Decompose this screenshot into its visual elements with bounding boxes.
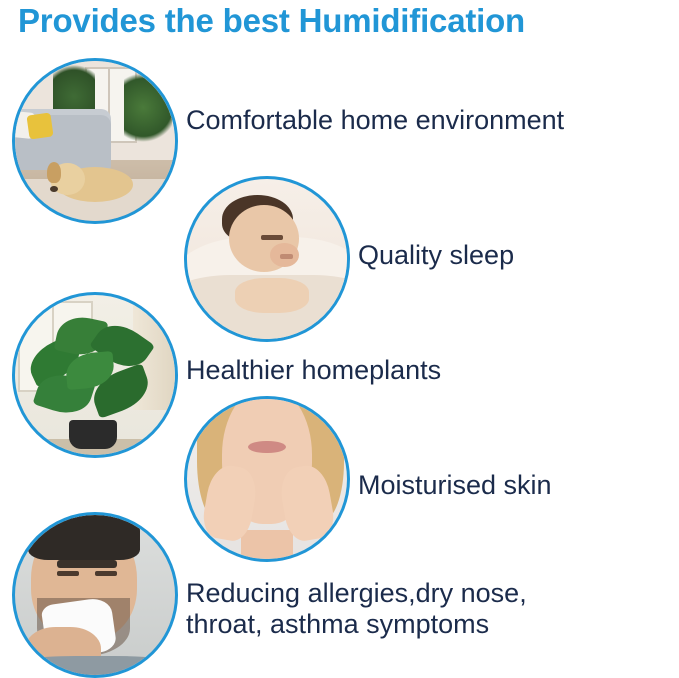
scene-houseplant [15,295,175,455]
benefit-image-quality-sleep [184,176,350,342]
man-shoulder [15,656,175,675]
baby-eye [261,235,283,240]
man-brow [57,560,118,568]
benefit-image-reducing-allergies [12,512,178,678]
baby-arm [235,278,309,313]
man-hair [28,515,140,560]
baby-mouth [280,254,293,259]
scene-living-room [15,61,175,221]
cushion-yellow [26,112,53,139]
man-eye-left [57,571,79,576]
benefit-caption-reducing-allergies: Reducing allergies,dry nose, throat, ast… [186,578,666,640]
plant-pot [69,420,117,449]
man-eye-right [95,571,117,576]
scene-woman-face [187,399,347,559]
benefit-caption-healthier-homeplants: Healthier homeplants [186,355,606,386]
scene-man-sneezing [15,515,175,675]
plant-right [124,71,172,145]
benefit-caption-quality-sleep: Quality sleep [358,240,658,271]
benefit-image-comfortable-home [12,58,178,224]
benefit-image-moisturised-skin [184,396,350,562]
page-title: Provides the best Humidification [18,2,668,40]
scene-sleeping-baby [187,179,347,339]
benefit-caption-moisturised-skin: Moisturised skin [358,470,658,501]
neck [241,530,292,559]
benefit-caption-comfortable-home: Comfortable home environment [186,105,676,136]
benefit-image-healthier-homeplants [12,292,178,458]
infographic-page: Provides the best Humidification Comfort… [0,0,679,678]
dog-ear [47,162,61,183]
